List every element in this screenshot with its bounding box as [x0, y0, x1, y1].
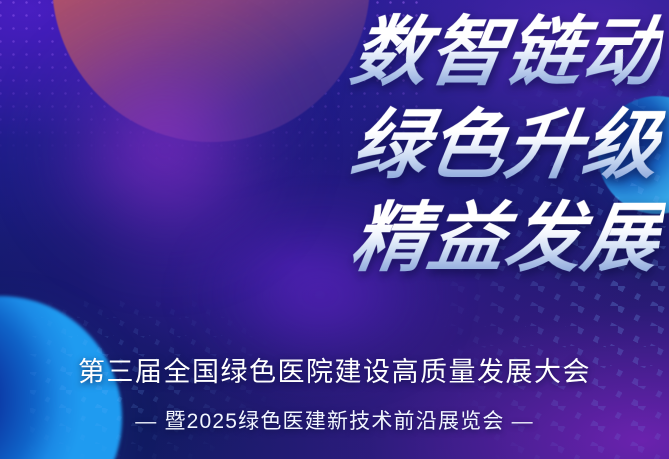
headline-line-2: 绿色升级 [0, 99, 668, 192]
event-exhibition-title: — 暨2025绿色医建新技术前沿展览会 — [0, 407, 669, 437]
headline-line-3: 精益发展 [0, 192, 668, 285]
event-title: 第三届全国绿色医院建设高质量发展大会 [0, 352, 669, 392]
poster-subtitle-block: 第三届全国绿色医院建设高质量发展大会 — 暨2025绿色医建新技术前沿展览会 — [0, 352, 669, 437]
poster-headline: 数智链动 绿色升级 精益发展 [0, 6, 653, 285]
headline-line-1: 数智链动 [0, 6, 668, 99]
conference-poster: 数智链动 绿色升级 精益发展 第三届全国绿色医院建设高质量发展大会 — 暨202… [0, 0, 669, 459]
